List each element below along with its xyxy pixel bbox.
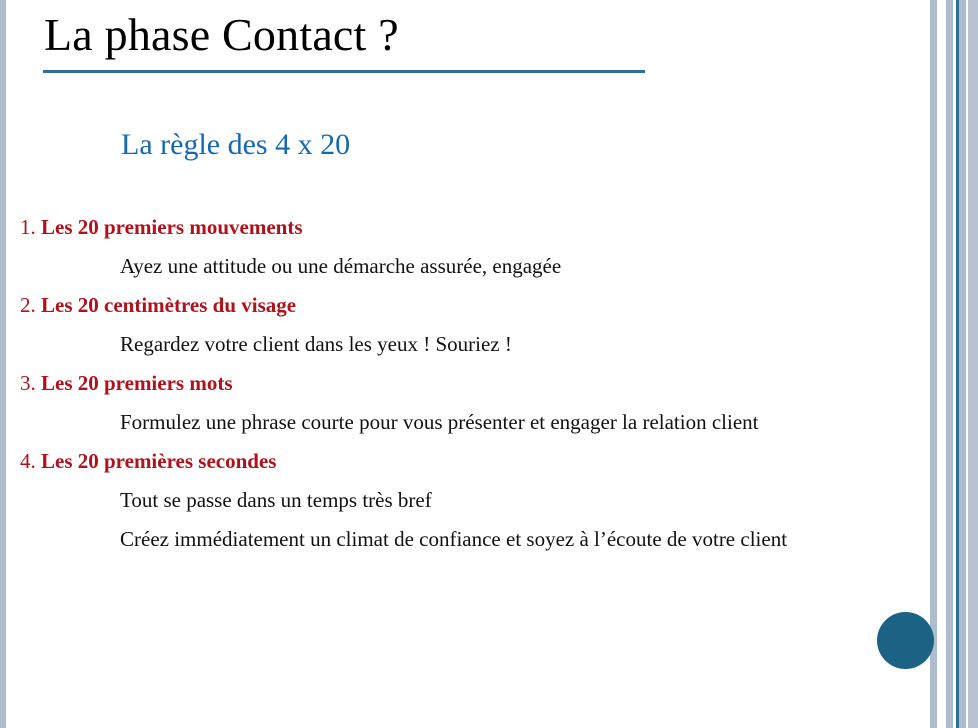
list-item-number: 3. [20, 371, 36, 395]
list-item-heading-text: Les 20 premiers mots [41, 371, 233, 395]
slide-title: La phase Contact ? [44, 6, 399, 64]
list-item-number: 2. [20, 293, 36, 317]
list-item-number: 4. [20, 449, 36, 473]
list-item-heading: 4. Les 20 premières secondes [0, 442, 930, 481]
slide-subtitle: La règle des 4 x 20 [121, 126, 350, 164]
list-item-heading-text: Les 20 premiers mouvements [41, 215, 303, 239]
list-item: 2. Les 20 centimètres du visage Regardez… [0, 286, 930, 364]
list-item-heading-text: Les 20 centimètres du visage [41, 293, 296, 317]
list-item: 4. Les 20 premières secondes Tout se pas… [0, 442, 930, 559]
right-edge-stripe-group [930, 0, 978, 728]
list-item-heading-text: Les 20 premières secondes [41, 449, 276, 473]
title-underline-rule [43, 70, 645, 73]
list-item: 3. Les 20 premiers mots Formulez une phr… [0, 364, 930, 442]
list-item-subline: Créez immédiatement un climat de confian… [0, 520, 930, 559]
list-item-heading: 1. Les 20 premiers mouvements [0, 208, 930, 247]
right-stripe-1 [930, 0, 937, 728]
list-item-subline: Regardez votre client dans les yeux ! So… [0, 325, 930, 364]
list-item-subline: Formulez une phrase courte pour vous pré… [0, 403, 930, 442]
list-item-heading: 3. Les 20 premiers mots [0, 364, 930, 403]
slide-canvas: La phase Contact ? La règle des 4 x 20 1… [0, 0, 978, 728]
list-item: 1. Les 20 premiers mouvements Ayez une a… [0, 208, 930, 286]
decorative-circle [877, 612, 934, 669]
right-stripe-4 [968, 0, 978, 728]
list-item-heading: 2. Les 20 centimètres du visage [0, 286, 930, 325]
list-item-number: 1. [20, 215, 36, 239]
rule-list: 1. Les 20 premiers mouvements Ayez une a… [0, 208, 930, 559]
right-stripe-3 [959, 0, 966, 728]
list-item-subline: Tout se passe dans un temps très bref [0, 481, 930, 520]
list-item-subline: Ayez une attitude ou une démarche assuré… [0, 247, 930, 286]
right-stripe-2 [946, 0, 953, 728]
